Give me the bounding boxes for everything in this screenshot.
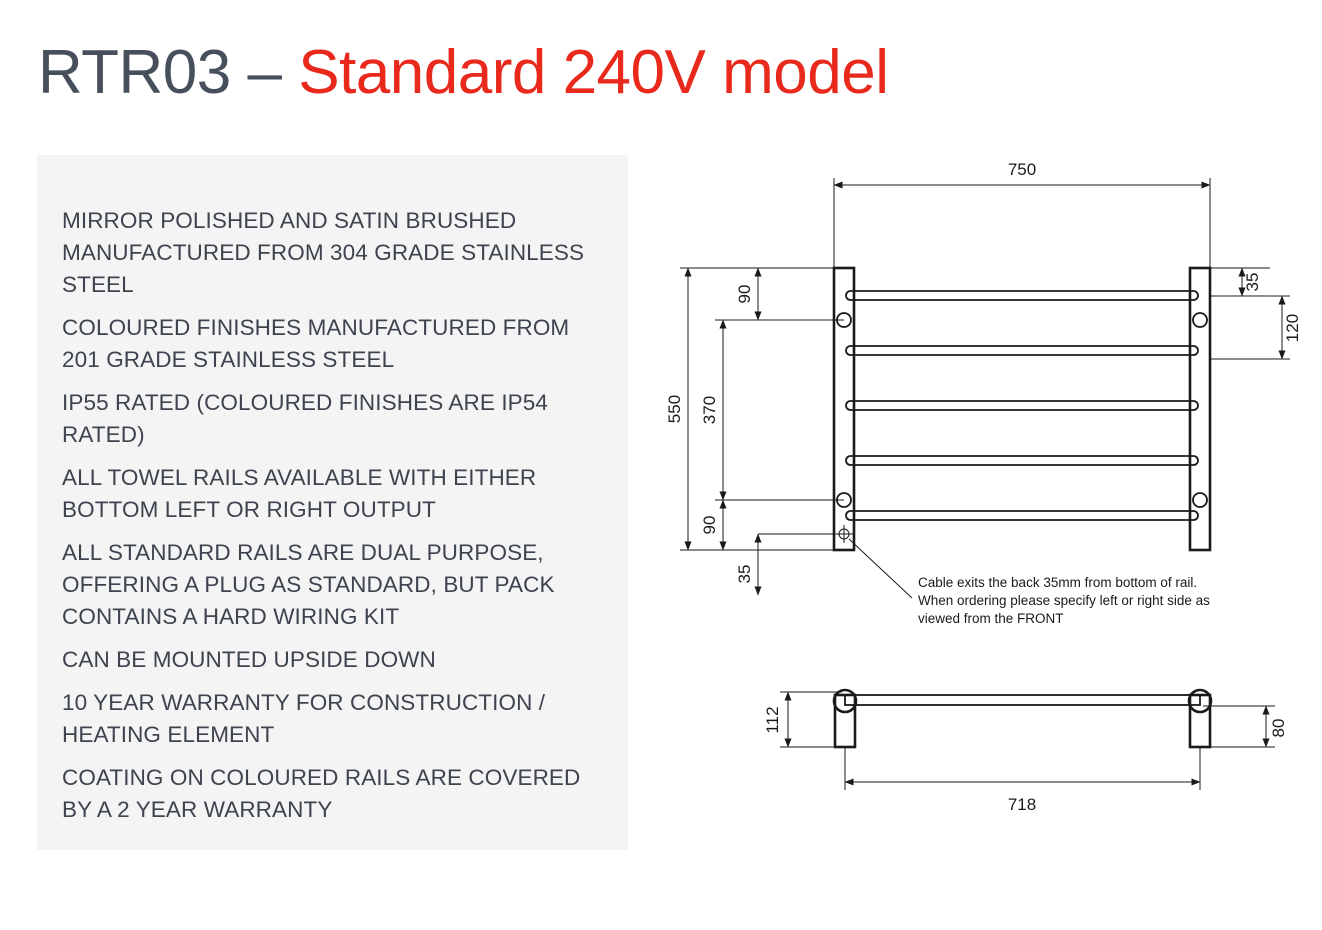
rail-bar bbox=[846, 346, 1198, 355]
dim-label-120: 120 bbox=[1283, 314, 1302, 342]
dimension-width-750: 750 bbox=[834, 160, 1210, 272]
plan-view: 112 80 718 bbox=[763, 690, 1288, 814]
rail-bar bbox=[846, 291, 1198, 300]
specifications-panel: MIRROR POLISHED AND SATIN BRUSHED MANUFA… bbox=[37, 155, 628, 850]
dimension-80: 80 bbox=[1203, 706, 1288, 747]
mounting-hole bbox=[1193, 313, 1207, 327]
spec-item: COATING ON COLOURED RAILS ARE COVERED BY… bbox=[62, 762, 602, 826]
dim-label-550: 550 bbox=[665, 395, 684, 423]
dimension-112: 112 bbox=[763, 692, 842, 747]
note-line-1: Cable exits the back 35mm from bottom of… bbox=[918, 575, 1197, 590]
specifications-list: MIRROR POLISHED AND SATIN BRUSHED MANUFA… bbox=[62, 205, 602, 837]
page-title: RTR03 – Standard 240V model bbox=[38, 42, 888, 104]
rail-bar bbox=[846, 456, 1198, 465]
dim-label-90-bottom: 90 bbox=[700, 516, 719, 535]
product-subtitle: Standard 240V model bbox=[298, 38, 888, 107]
front-elevation-view: 750 550 bbox=[665, 160, 1302, 598]
note-line-2: When ordering please specify left or rig… bbox=[918, 593, 1210, 608]
product-code: RTR03 bbox=[38, 38, 231, 107]
spec-item: CAN BE MOUNTED UPSIDE DOWN bbox=[62, 644, 602, 676]
technical-drawing: 750 550 bbox=[650, 150, 1310, 830]
dim-label-370: 370 bbox=[700, 396, 719, 424]
rail-bar bbox=[846, 511, 1198, 520]
plan-rail-bar bbox=[845, 695, 1200, 705]
dim-label-35-top: 35 bbox=[1243, 273, 1262, 292]
spec-item: ALL STANDARD RAILS ARE DUAL PURPOSE, OFF… bbox=[62, 537, 602, 633]
note-leader-line bbox=[849, 539, 912, 598]
spec-item: COLOURED FINISHES MANUFACTURED FROM 201 … bbox=[62, 312, 602, 376]
dim-label-90-top: 90 bbox=[735, 285, 754, 304]
dimension-370: 370 bbox=[700, 320, 844, 500]
dim-label-112: 112 bbox=[763, 706, 782, 733]
cable-exit-note: Cable exits the back 35mm from bottom of… bbox=[918, 575, 1210, 626]
dim-label-80-value: 80 bbox=[1269, 719, 1288, 738]
dim-label-750: 750 bbox=[1008, 160, 1036, 179]
dimension-35-top: 35 bbox=[1210, 268, 1270, 296]
spec-item: 10 YEAR WARRANTY FOR CONSTRUCTION / HEAT… bbox=[62, 687, 602, 751]
towel-rails bbox=[846, 291, 1198, 520]
dim-label-35-cable: 35 bbox=[735, 565, 754, 584]
rail-bar bbox=[846, 401, 1198, 410]
dimension-35-cable: 35 bbox=[735, 534, 844, 595]
dimension-90-bottom: 90 bbox=[700, 500, 844, 550]
dimension-height-550: 550 bbox=[665, 268, 834, 550]
note-line-3: viewed from the FRONT bbox=[918, 611, 1064, 626]
spec-item: IP55 RATED (COLOURED FINISHES ARE IP54 R… bbox=[62, 387, 602, 451]
spec-item: MIRROR POLISHED AND SATIN BRUSHED MANUFA… bbox=[62, 205, 602, 301]
dimension-90-top: 90 bbox=[735, 268, 844, 320]
dim-label-718: 718 bbox=[1008, 795, 1036, 814]
spec-item: ALL TOWEL RAILS AVAILABLE WITH EITHER BO… bbox=[62, 462, 602, 526]
mounting-hole bbox=[1193, 493, 1207, 507]
title-dash: – bbox=[248, 38, 282, 107]
dimension-120: 120 bbox=[1210, 296, 1302, 359]
dimension-718: 718 bbox=[845, 747, 1200, 814]
